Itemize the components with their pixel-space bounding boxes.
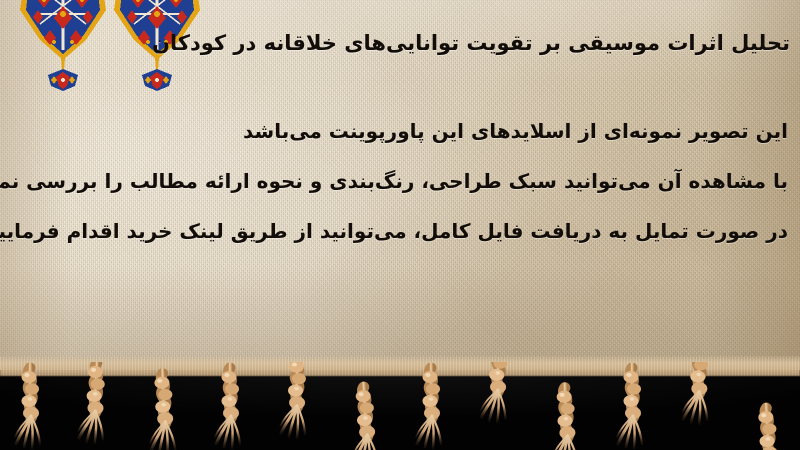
carpet-bottom-edge <box>0 356 800 376</box>
slide-title: تحلیل اثرات موسیقی بر تقویت توانایی‌های … <box>225 28 790 58</box>
bottom-black-band <box>0 370 800 450</box>
body-line: این تصویر نمونه‌ای از اسلایدهای این پاور… <box>60 112 788 150</box>
body-line: در صورت تمایل به دریافت فایل کامل، می‌تو… <box>60 212 788 250</box>
body-line: با مشاهده آن می‌توانید سبک طراحی، رنگ‌بن… <box>60 162 788 200</box>
slide-body: این تصویر نمونه‌ای از اسلایدهای این پاور… <box>60 112 788 250</box>
persian-kilim-medallion-icon <box>14 0 112 91</box>
presentation-slide: تحلیل اثرات موسیقی بر تقویت توانایی‌های … <box>0 0 800 450</box>
